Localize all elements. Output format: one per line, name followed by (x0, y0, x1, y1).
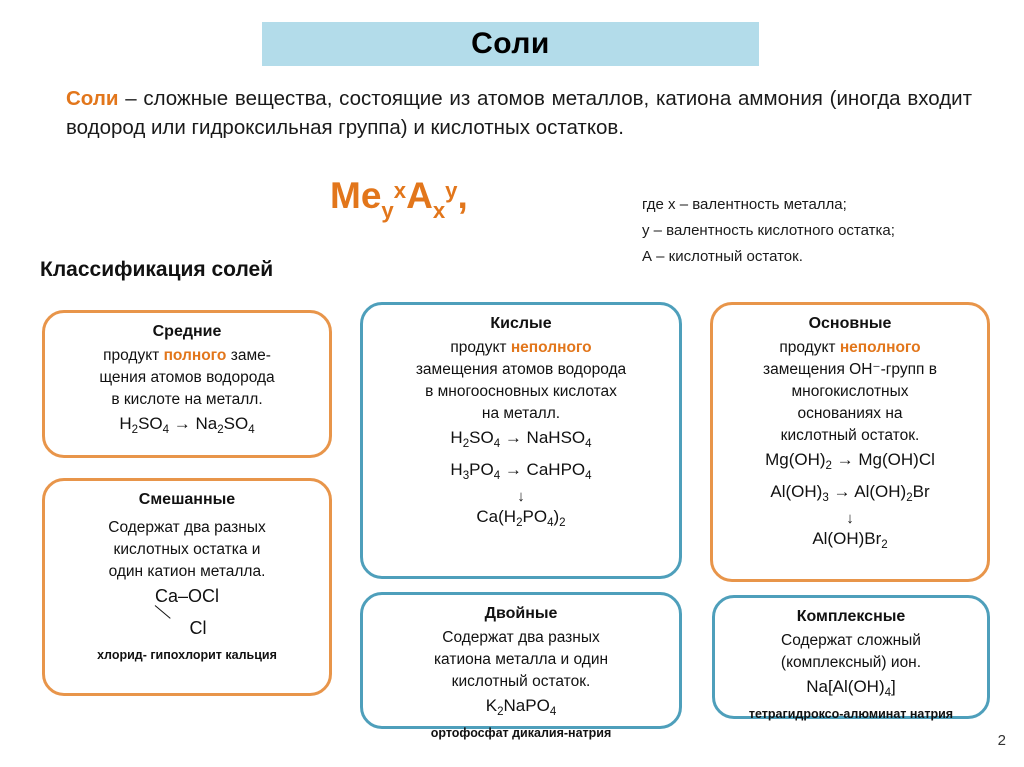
box-osnovnye-line5: кислотный остаток. (723, 425, 977, 447)
box-kislye-formula-2: H3PO4 → CaHPO4 (373, 457, 669, 489)
box-srednie-keyword: полного (164, 347, 227, 364)
box-smeshannye: Смешанные Содержат два разных кислотных … (42, 478, 332, 696)
box-kislye-line4: на металл. (373, 403, 669, 425)
box-dvoynye-title: Двойные (373, 603, 669, 625)
slide-root: Соли Соли – сложные вещества, состоящие … (0, 0, 1024, 767)
box-kislye-formula-3: Ca(H2PO4)2 (373, 504, 669, 536)
box-kompleksnye-title: Комплексные (725, 606, 977, 628)
box-osnovnye-line3: многокислотных (723, 381, 977, 403)
legend-line-x: где х – валентность металла; (642, 192, 982, 218)
general-formula: MeyxAxy, (330, 175, 468, 224)
box-dvoynye-formula: K2NaPO4 (373, 693, 669, 725)
box-srednie-desc-after: заме- (226, 347, 270, 364)
page-number: 2 (998, 732, 1006, 749)
box-srednie-line3: в кислоте на металл. (55, 389, 319, 411)
formula-me-sub: y (381, 198, 393, 223)
formula-comma: , (458, 175, 468, 216)
box-dvoynye-line3: кислотный остаток. (373, 671, 669, 693)
formula-a-sub: x (433, 198, 445, 223)
box-kislye-keyword: неполного (511, 339, 592, 356)
box-kislye-line2: замещения атомов водорода (373, 359, 669, 381)
box-kislye-formula-1: H2SO4 → NaHSO4 (373, 425, 669, 457)
formula-legend: где х – валентность металла; у – валентн… (642, 192, 982, 270)
box-dvoynye-line1: Содержат два разных (373, 627, 669, 649)
page-title: Соли (471, 27, 550, 61)
intro-keyword: Соли (66, 87, 118, 110)
box-srednie: Средние продукт полного заме- щения атом… (42, 310, 332, 458)
box-osnovnye-keyword: неполного (840, 339, 921, 356)
box-dvoynye-caption: ортофосфат дикалия-натрия (373, 725, 669, 742)
box-kislye-desc-before: продукт (450, 339, 510, 356)
box-kislye-title: Кислые (373, 313, 669, 335)
box-smeshannye-line2: кислотных остатка и (55, 539, 319, 561)
box-srednie-title: Средние (55, 321, 319, 343)
box-smeshannye-line3: один катион металла. (55, 561, 319, 583)
box-kompleksnye: Комплексные Содержат сложный (комплексны… (712, 595, 990, 719)
box-srednie-desc: продукт полного заме- (55, 345, 319, 367)
legend-line-a: А – кислотный остаток. (642, 244, 982, 270)
box-kompleksnye-line2: (комплексный) ион. (725, 652, 977, 674)
box-smeshannye-formula-top: Ca–OCl (55, 585, 319, 607)
intro-text: – сложные вещества, состоящие из атомов … (66, 87, 972, 139)
box-kislye-line3: в многоосновных кислотах (373, 381, 669, 403)
legend-line-y: у – валентность кислотного остатка; (642, 218, 982, 244)
box-osnovnye-title: Основные (723, 313, 977, 335)
intro-paragraph: Соли – сложные вещества, состоящие из ат… (66, 84, 972, 142)
box-kislye-arrow-icon: ↓ (373, 489, 669, 504)
formula-me-sup: x (394, 178, 406, 203)
box-srednie-line2: щения атомов водорода (55, 367, 319, 389)
box-osnovnye-line2: замещения OH⁻-групп в (723, 359, 977, 381)
formula-a: A (406, 175, 433, 216)
formula-me: Me (330, 175, 381, 216)
box-srednie-formula: H2SO4 → Na2SO4 (55, 411, 319, 443)
box-osnovnye-desc-before: продукт (779, 339, 839, 356)
box-smeshannye-line1: Содержат два разных (55, 517, 319, 539)
box-kislye-desc: продукт неполного (373, 337, 669, 359)
box-kompleksnye-formula: Na[Al(OH)4] (725, 674, 977, 706)
box-smeshannye-caption: хлорид- гипохлорит кальция (55, 647, 319, 664)
section-heading: Классификация солей (40, 258, 273, 282)
box-osnovnye-desc: продукт неполного (723, 337, 977, 359)
box-kompleksnye-caption: тетрагидроксо-алюминат натрия (725, 706, 977, 723)
box-osnovnye-arrow-icon: ↓ (723, 511, 977, 526)
box-osnovnye-formula-1: Mg(OH)2 → Mg(OH)Cl (723, 447, 977, 479)
box-smeshannye-formula-bottom: Cl (55, 617, 319, 639)
box-dvoynye: Двойные Содержат два разных катиона мета… (360, 592, 682, 729)
box-kompleksnye-line1: Содержат сложный (725, 630, 977, 652)
box-osnovnye-formula-3: Al(OH)Br2 (723, 526, 977, 558)
box-srednie-desc-before: продукт (103, 347, 163, 364)
box-smeshannye-title: Смешанные (55, 489, 319, 511)
box-osnovnye: Основные продукт неполного замещения OH⁻… (710, 302, 990, 582)
box-kislye: Кислые продукт неполного замещения атомо… (360, 302, 682, 579)
box-dvoynye-line2: катиона металла и один (373, 649, 669, 671)
box-osnovnye-line4: основаниях на (723, 403, 977, 425)
formula-a-sup: y (445, 178, 457, 203)
title-banner: Соли (262, 22, 759, 66)
box-smeshannye-structure: Ca–OCl Cl (55, 585, 319, 647)
box-osnovnye-formula-2: Al(OH)3 → Al(OH)2Br (723, 479, 977, 511)
